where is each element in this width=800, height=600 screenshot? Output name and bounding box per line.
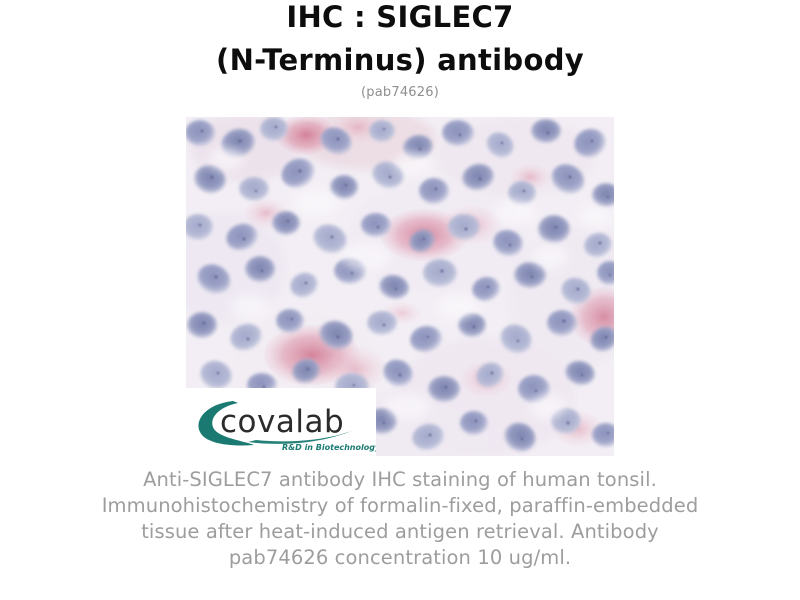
logo-tagline: R&D in Biotechnology: [282, 443, 376, 452]
caption-line-2: Immunohistochemistry of formalin-fixed, …: [60, 493, 740, 519]
catalog-number-label: (pab74626): [0, 75, 800, 100]
caption-line-4: pab74626 concentration 10 ug/ml.: [60, 545, 740, 571]
caption-line-3: tissue after heat-induced antigen retrie…: [60, 519, 740, 545]
logo-wordmark: covalab: [220, 404, 344, 440]
caption-line-1: Anti-SIGLEC7 antibody IHC staining of hu…: [60, 467, 740, 493]
page-title-block: IHC : SIGLEC7 (N-Terminus) antibody (pab…: [0, 0, 800, 100]
covalab-logo-svg: covalab R&D in Biotechnology: [186, 388, 376, 456]
covalab-logo: covalab R&D in Biotechnology: [186, 388, 376, 456]
page-title-secondary: (N-Terminus) antibody: [0, 32, 800, 75]
page-title-primary: IHC : SIGLEC7: [0, 0, 800, 32]
figure-caption: Anti-SIGLEC7 antibody IHC staining of hu…: [60, 467, 740, 571]
product-figure-page: IHC : SIGLEC7 (N-Terminus) antibody (pab…: [0, 0, 800, 600]
